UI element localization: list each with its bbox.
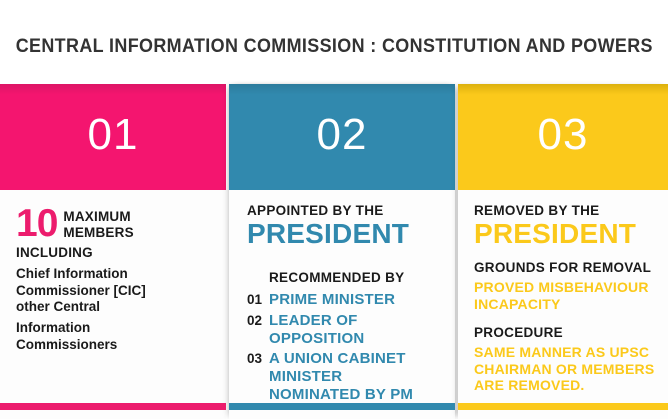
list-item-index: 03 — [247, 350, 269, 368]
column-3-number-block: 03 — [458, 84, 668, 190]
card-column-3: 03 REMOVED BY THE PRESIDENT GROUNDS FOR … — [458, 84, 668, 419]
column-2-number-block: 02 — [229, 84, 455, 190]
column-1-body-line-5: Commissioners — [16, 337, 166, 354]
grounds-line-2: INCAPACITY — [474, 296, 660, 313]
column-1-number-block: 01 — [0, 84, 226, 190]
accent-strip-pink — [0, 403, 226, 410]
bottom-accent-strips — [0, 403, 668, 410]
removed-by-president: PRESIDENT — [474, 220, 660, 248]
procedure-line-3: ARE REMOVED. — [474, 377, 660, 394]
list-item-label: A UNION CABINET MINISTER NOMINATED BY PM — [269, 350, 434, 403]
grounds-for-removal-values: PROVED MISBEHAVIOUR INCAPACITY — [474, 279, 660, 313]
grounds-line-1: PROVED MISBEHAVIOUR — [474, 279, 660, 296]
list-item: 02 LEADER OF OPPOSITION — [247, 312, 447, 347]
page-title-bar: CENTRAL INFORMATION COMMISSION : CONSTIT… — [0, 0, 668, 84]
list-item-index: 02 — [247, 312, 269, 330]
column-1-body-text: Chief Information Commissioner [CIC] oth… — [16, 266, 166, 354]
list-item-label: LEADER OF OPPOSITION — [269, 312, 447, 347]
column-1-body-line-1: Chief Information — [16, 266, 166, 283]
appointed-by-kicker: APPOINTED BY THE — [247, 204, 447, 219]
procedure-heading: PROCEDURE — [474, 325, 660, 341]
card-column-1: 01 10 MAXIMUM MEMBERS INCLUDING Chief In… — [0, 84, 226, 419]
grounds-for-removal-heading: GROUNDS FOR REMOVAL — [474, 260, 660, 276]
column-1-body-line-3: other Central — [16, 299, 166, 316]
procedure-values: SAME MANNER AS UPSC CHAIRMAN OR MEMBERS … — [474, 344, 660, 394]
recommended-by-list: 01 PRIME MINISTER 02 LEADER OF OPPOSITIO… — [247, 291, 447, 404]
removed-by-kicker: REMOVED BY THE — [474, 204, 660, 219]
appointed-by-president: PRESIDENT — [247, 220, 447, 248]
column-1-body: 10 MAXIMUM MEMBERS INCLUDING Chief Infor… — [0, 190, 226, 419]
max-members-label-line2: MEMBERS — [63, 225, 133, 241]
accent-strip-yellow — [458, 403, 668, 410]
card-column-2: 02 APPOINTED BY THE PRESIDENT RECOMMENDE… — [229, 84, 455, 419]
accent-strip-blue — [229, 403, 455, 410]
column-1-body-line-4: Information — [16, 320, 166, 337]
column-2-body: APPOINTED BY THE PRESIDENT RECOMMENDED B… — [229, 190, 455, 419]
page-title: CENTRAL INFORMATION COMMISSION : CONSTIT… — [15, 35, 652, 58]
list-item: 01 PRIME MINISTER — [247, 291, 447, 309]
list-item-index: 01 — [247, 291, 269, 309]
columns-container: 01 10 MAXIMUM MEMBERS INCLUDING Chief In… — [0, 84, 668, 419]
max-members-label: MAXIMUM MEMBERS — [63, 209, 133, 242]
procedure-line-1: SAME MANNER AS UPSC — [474, 344, 660, 361]
max-members-value: 10 — [16, 208, 57, 240]
including-label: INCLUDING — [16, 245, 216, 260]
list-item-label: PRIME MINISTER — [269, 291, 395, 309]
column-3-body: REMOVED BY THE PRESIDENT GROUNDS FOR REM… — [458, 190, 668, 419]
max-members-label-line1: MAXIMUM — [63, 209, 133, 225]
column-1-body-line-2: Commissioner [CIC] — [16, 283, 166, 300]
procedure-line-2: CHAIRMAN OR MEMBERS — [474, 361, 660, 378]
column-2-number: 02 — [317, 113, 368, 161]
column-3-number: 03 — [538, 113, 589, 161]
list-item: 03 A UNION CABINET MINISTER NOMINATED BY… — [247, 350, 447, 403]
column-1-number: 01 — [88, 113, 139, 161]
max-members-row: 10 MAXIMUM MEMBERS — [16, 208, 216, 242]
recommended-by-heading: RECOMMENDED BY — [269, 270, 447, 285]
